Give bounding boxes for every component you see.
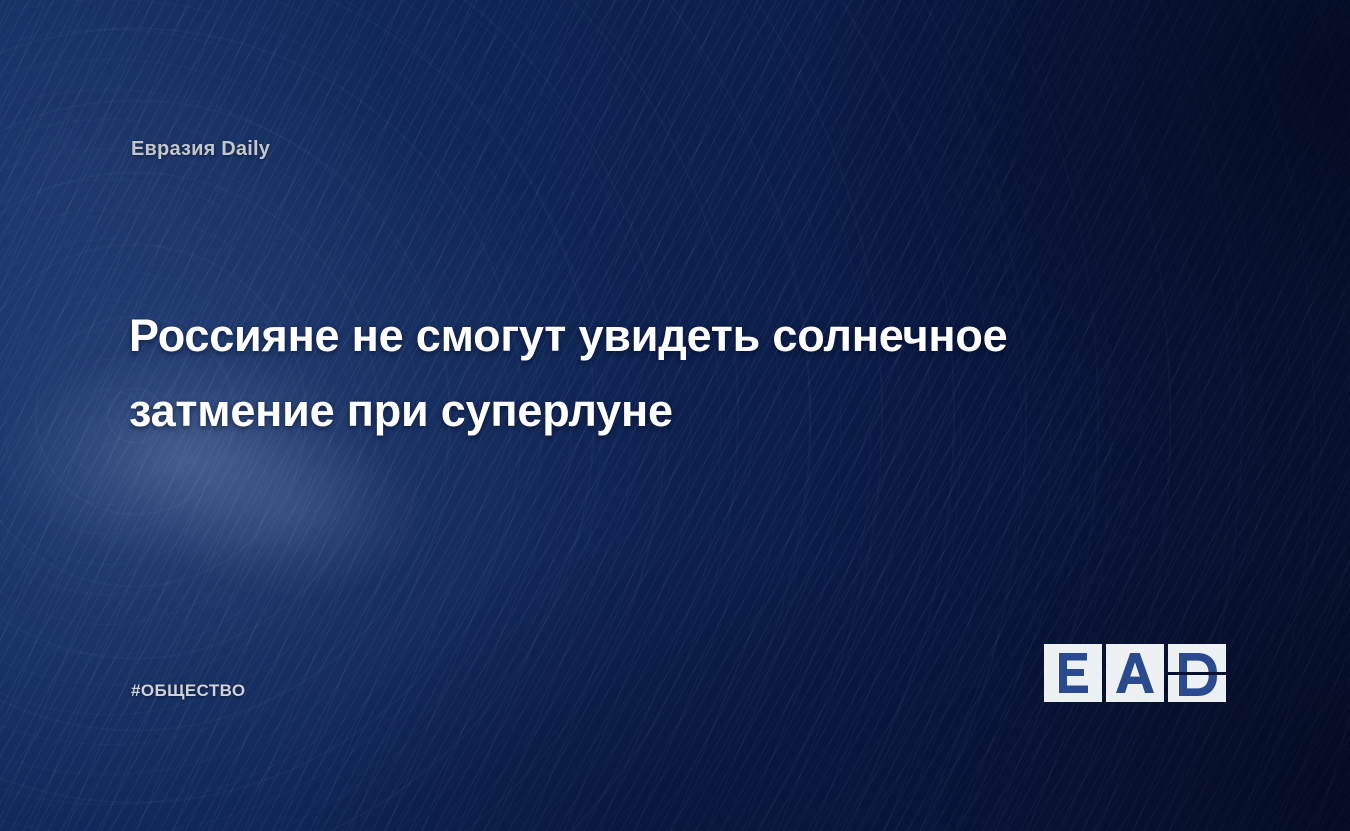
publication-name: Евразия Daily [131,138,270,161]
logo-letter-e-icon [1056,653,1090,693]
news-card: Евразия Daily Россияне не смогут увидеть… [0,0,1350,831]
logo-letter-d-upper-half [1168,644,1226,672]
logo-letter-d-icon-bottom [1168,675,1226,703]
logo-letter-a-tile [1106,644,1164,702]
logo-letter-a-icon [1116,653,1154,693]
logo-letter-d-icon-top [1168,644,1226,672]
logo-letter-d-lower-half [1168,675,1226,703]
article-headline: Россияне не смогут увидеть солнечное зат… [129,298,1219,448]
card-content: Евразия Daily Россияне не смогут увидеть… [0,0,1350,831]
logo-letter-d-tile [1168,644,1226,702]
category-hashtag[interactable]: #ОБЩЕСТВО [131,681,245,701]
logo-letter-e-tile [1044,644,1102,702]
ead-logo[interactable] [1044,644,1226,702]
